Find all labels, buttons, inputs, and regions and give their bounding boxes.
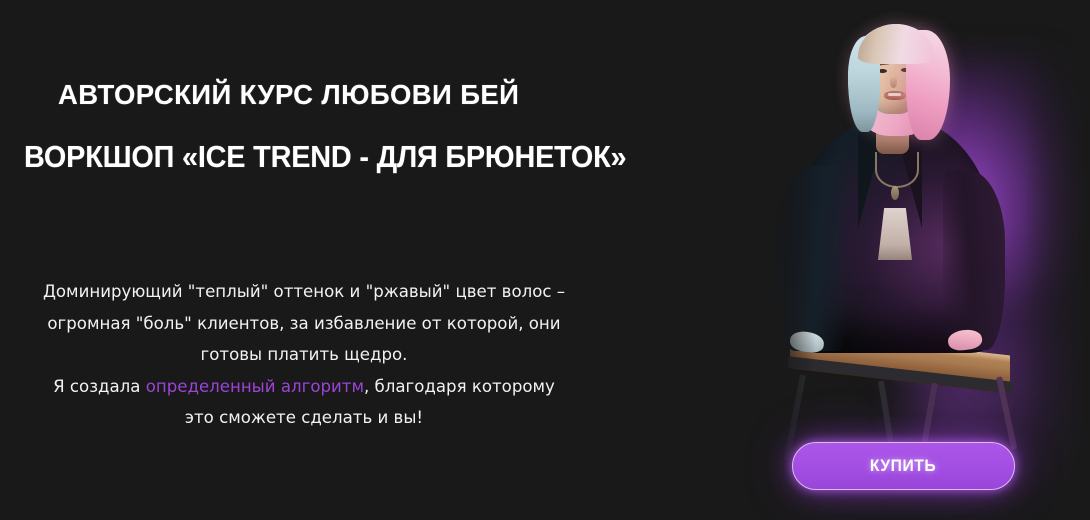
nose: [890, 76, 897, 88]
description-line-4: Я создала определенный алгоритм, благода…: [22, 371, 586, 403]
description-line-3: готовы платить щедро.: [22, 339, 586, 371]
description-line-4-before: Я создала: [53, 377, 146, 396]
algorithm-highlight: определенный алгоритм: [146, 377, 364, 396]
necklace: [875, 152, 919, 188]
text-column: АВТОРСКИЙ КУРС ЛЮБОВИ БЕЙ ВОРКШОП «ICE T…: [0, 0, 620, 520]
workshop-subtitle: ВОРКШОП «ICE TREND - ДЛЯ БРЮНЕТОК»: [24, 139, 626, 175]
description-line-4-after: , благодаря которому: [364, 377, 555, 396]
page-title: АВТОРСКИЙ КУРС ЛЮБОВИ БЕЙ: [58, 79, 519, 111]
description-line-1: Доминирующий "теплый" оттенок и "ржавый"…: [22, 276, 586, 308]
hero-description: Доминирующий "теплый" оттенок и "ржавый"…: [22, 276, 586, 434]
teeth: [888, 93, 901, 96]
hero-section: АВТОРСКИЙ КУРС ЛЮБОВИ БЕЙ ВОРКШОП «ICE T…: [0, 0, 1090, 520]
buy-button[interactable]: КУПИТЬ: [792, 442, 1015, 490]
description-line-5: это сможете сделать и вы!: [22, 402, 586, 434]
necklace-pendant: [891, 186, 899, 200]
description-line-2: огромная "боль" клиентов, за избавление …: [22, 308, 586, 340]
instructor-figure: [760, 0, 1090, 400]
buy-button-label: КУПИТЬ: [870, 456, 936, 476]
